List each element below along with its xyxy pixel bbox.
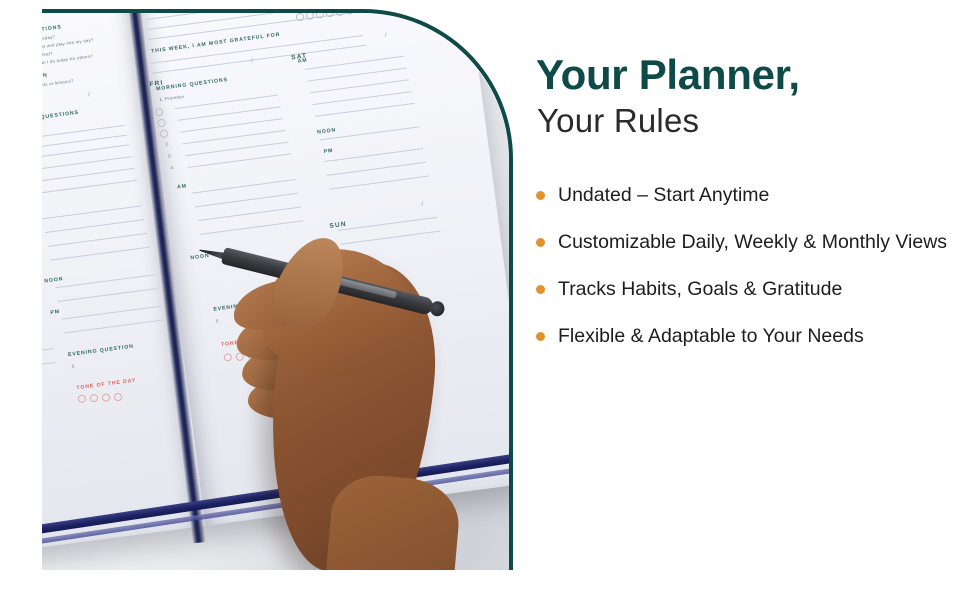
day-time-block: AM [177, 183, 188, 190]
day-time-block: PM [323, 148, 333, 155]
day-evening-number: 5. [71, 363, 76, 368]
list-item: Tracks Habits, Goals & Gratitude [536, 276, 956, 302]
bullet-dot-icon [536, 285, 545, 294]
feature-text: Tracks Habits, Goals & Gratitude [558, 278, 842, 300]
day-time-block: PM [50, 309, 60, 316]
list-item: Flexible & Adaptable to Your Needs [536, 323, 956, 349]
feature-list: Undated – Start Anytime Customizable Dai… [536, 182, 956, 350]
marketing-copy-panel: Your Planner, Your Rules Undated – Start… [536, 0, 956, 600]
list-item: Customizable Daily, Weekly & Monthly Vie… [536, 229, 956, 255]
day-priority-number: 3. [168, 153, 173, 158]
bullet-dot-icon [536, 238, 545, 247]
headline-subtitle: Your Rules [537, 104, 699, 137]
product-photo-panel: MORNING QUESTIONS 1. What are my priorit… [42, 9, 513, 570]
bullet-dot-icon [536, 332, 545, 341]
day-date-slash: / [88, 92, 90, 98]
promo-banner: MORNING QUESTIONS 1. What are my priorit… [0, 0, 970, 600]
day-time-block: AM [297, 57, 308, 64]
feature-text: Customizable Daily, Weekly & Monthly Vie… [558, 231, 947, 253]
day-date-slash: / [385, 33, 387, 39]
headline-title: Your Planner, [536, 54, 800, 96]
product-photo: MORNING QUESTIONS 1. What are my priorit… [42, 13, 509, 570]
day-date-slash: / [421, 202, 423, 208]
day-priority-number: 2. [165, 141, 170, 146]
day-date-slash: / [251, 59, 253, 65]
list-item: Undated – Start Anytime [536, 182, 956, 208]
feature-text: Undated – Start Anytime [558, 184, 769, 206]
hand-holding-pen [210, 209, 509, 570]
day-priority-number: 4. [170, 165, 175, 170]
bullet-dot-icon [536, 191, 545, 200]
feature-text: Flexible & Adaptable to Your Needs [558, 325, 864, 347]
